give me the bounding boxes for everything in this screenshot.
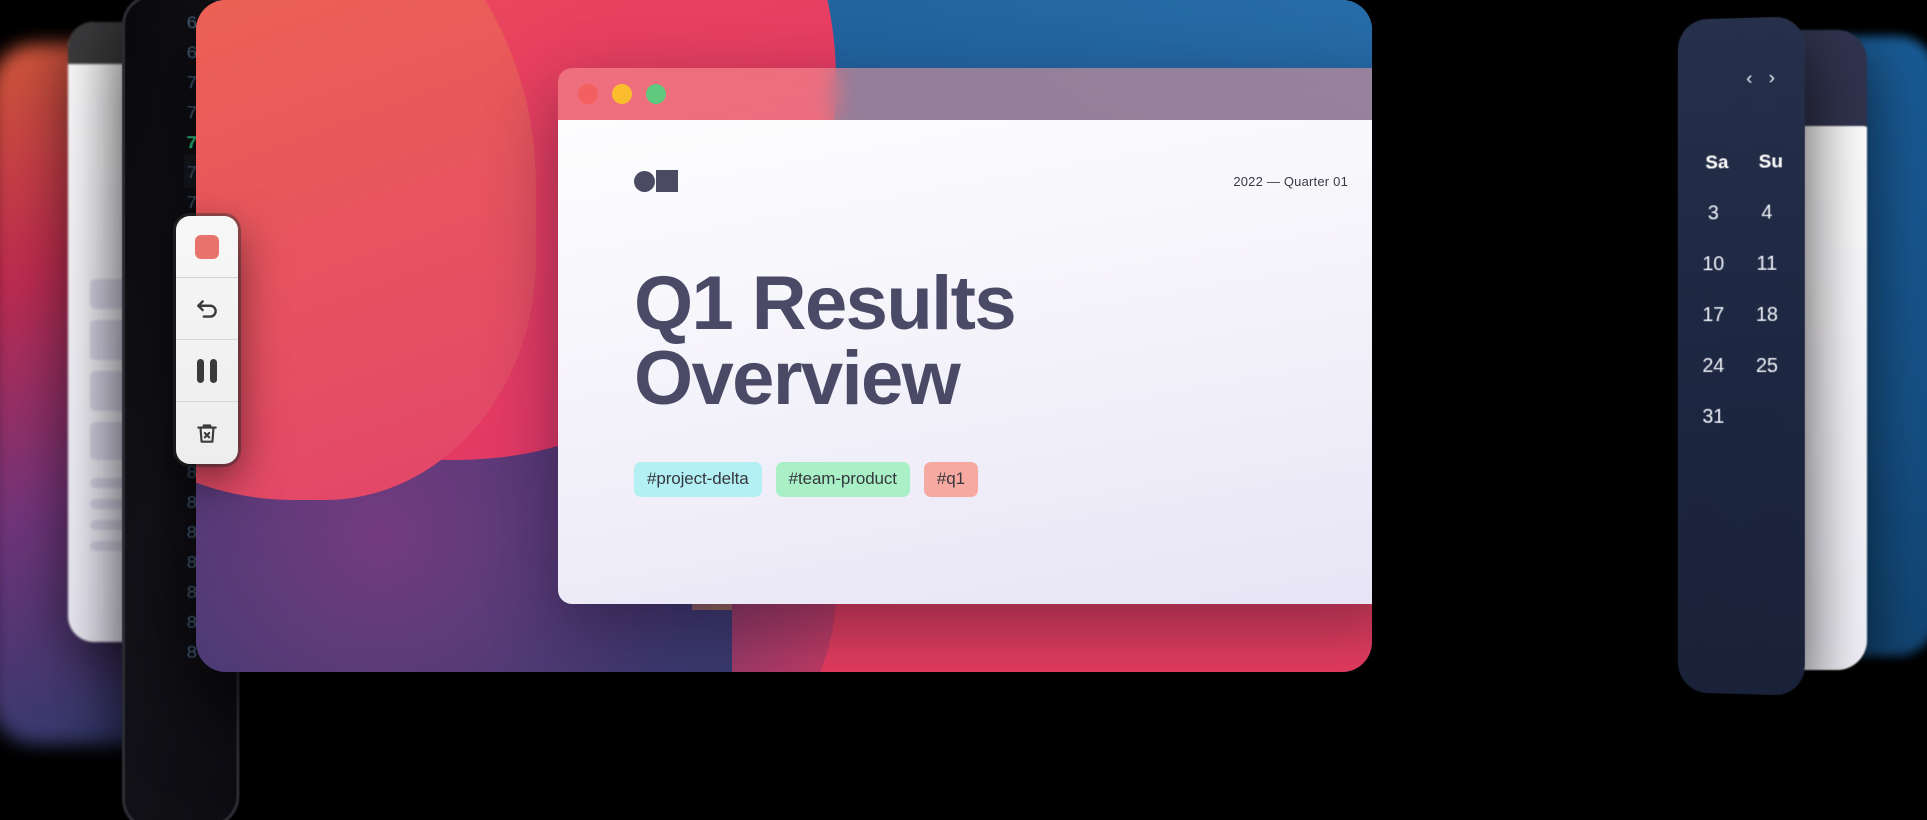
screen-recorder-toolbar [176,216,238,464]
slide-period-label: 2022 — Quarter 01 [1233,174,1348,189]
calendar-day[interactable]: 10 [1701,253,1725,276]
slide-tag[interactable]: #q1 [924,462,978,497]
presentation-window: 2022 — Quarter 01 Q1 Results Overview #p… [558,68,1372,604]
calendar-row: 24 25 [1678,327,1805,378]
window-titlebar[interactable] [558,68,1372,120]
calendar-day[interactable]: 25 [1755,355,1779,378]
delete-recording-button[interactable] [176,402,238,464]
screenshot-stage: 6869707172737475767778798081828384858687… [0,0,1927,820]
brand-circle-shape [634,171,655,192]
calendar-prev-button[interactable]: ‹ [1746,68,1752,90]
undo-arrow-icon [194,296,220,322]
slide-header: 2022 — Quarter 01 [634,170,1348,192]
calendar-weekday-header: Sa Su [1678,89,1805,175]
minimize-window-button[interactable] [612,84,632,104]
calendar-row: 3 4 [1678,173,1805,226]
slide-title: Q1 Results Overview [634,266,1094,416]
slide-tag[interactable]: #team-product [776,462,910,497]
slide-title-line-2: Overview [634,336,959,421]
stop-square-icon [195,235,219,259]
pause-icon [197,359,217,383]
calendar-weekday: Sa [1705,152,1729,174]
slide-title-line-1: Q1 Results [634,261,1015,346]
maximize-window-button[interactable] [646,84,666,104]
calendar-day[interactable]: 18 [1755,304,1779,327]
calendar-day[interactable]: 17 [1701,304,1725,327]
calendar-row: 10 11 [1678,224,1805,276]
calendar-day[interactable]: 4 [1755,201,1779,224]
slide-canvas: 2022 — Quarter 01 Q1 Results Overview #p… [558,120,1372,604]
background-card-calendar: ‹ › Sa Su 3 4 10 11 17 18 24 25 31 [1678,16,1805,696]
brand-mark-icon [634,170,678,192]
calendar-weekday: Su [1759,151,1783,173]
brand-square-shape [656,170,678,192]
restart-recording-button[interactable] [176,278,238,340]
stop-recording-button[interactable] [176,216,238,278]
calendar-row: 17 18 [1678,276,1805,328]
calendar-day[interactable]: 3 [1701,202,1725,225]
calendar-nav: ‹ › [1678,16,1805,91]
close-window-button[interactable] [578,84,598,104]
calendar-row: 31 [1678,378,1805,430]
slide-tag[interactable]: #project-delta [634,462,762,497]
trash-icon [194,420,220,446]
pause-recording-button[interactable] [176,340,238,402]
slide-tag-list: #project-delta#team-product#q1 [634,462,1348,497]
calendar-day[interactable] [1755,406,1779,429]
calendar-next-button[interactable]: › [1769,67,1775,89]
calendar-day[interactable]: 24 [1701,355,1725,378]
desktop-frame: 2022 — Quarter 01 Q1 Results Overview #p… [196,0,1372,672]
calendar-day[interactable]: 11 [1755,253,1779,276]
calendar-day[interactable]: 31 [1701,406,1725,429]
